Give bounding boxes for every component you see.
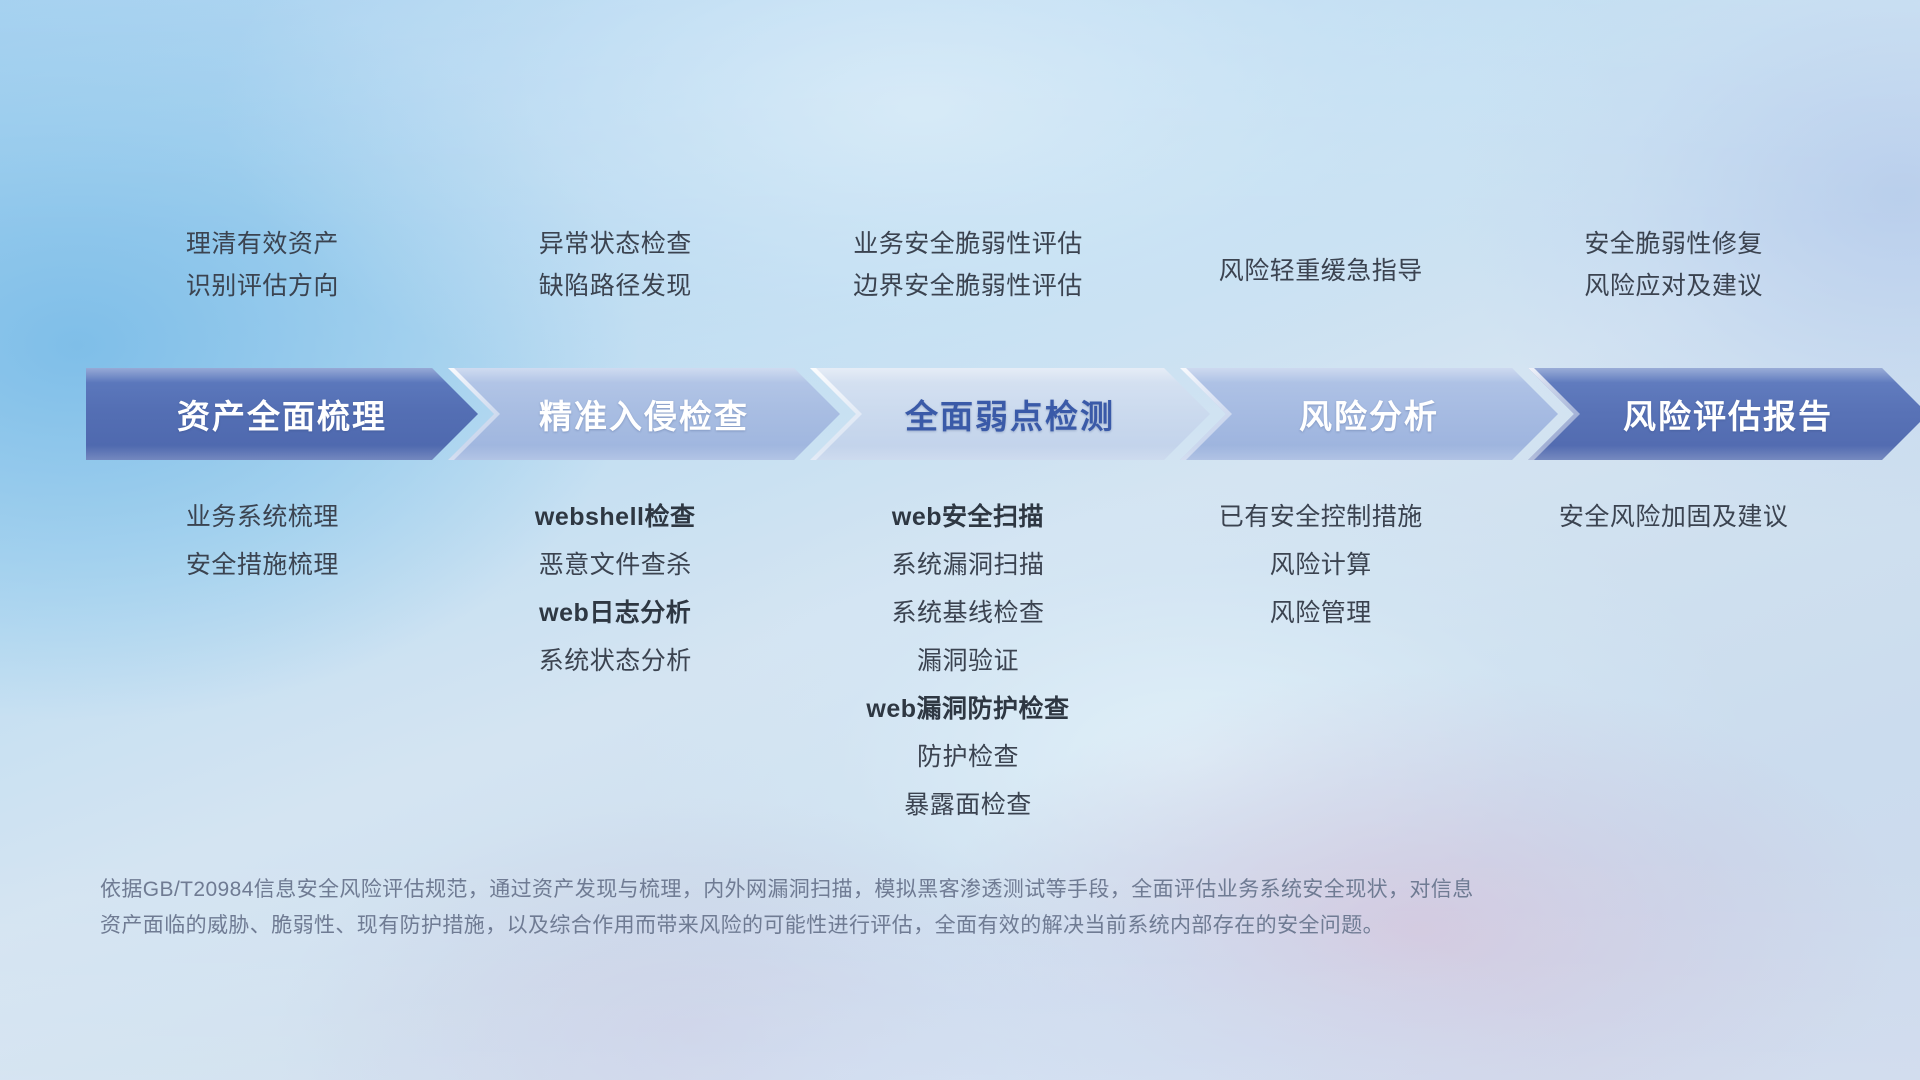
process-chevron-band: 资产全面梳理 精准入侵检查 全面弱点检测 风险分析 [86,368,1856,460]
top-note: 边界安全脆弱性评估 [853,274,1083,299]
top-notes-stage-5: 安全脆弱性修复 风险应对及建议 [1497,232,1850,299]
list-item: 业务系统梳理 [186,505,339,530]
stage-detail-lists: 业务系统梳理 安全措施梳理 webshell检查 恶意文件查杀 web日志分析 … [86,505,1850,818]
list-item: 漏洞验证 [917,649,1019,674]
list-item: webshell检查 [535,505,696,530]
chevron-stage-4[interactable]: 风险分析 [1180,368,1558,460]
detail-list-stage-5: 安全风险加固及建议 [1497,505,1850,530]
top-note: 缺陷路径发现 [539,274,692,299]
list-item: 风险计算 [1270,553,1372,578]
chevron-label: 风险分析 [1299,390,1439,438]
top-notes-stage-4: 风险轻重缓急指导 [1144,232,1497,284]
list-item: 系统基线检查 [891,601,1044,626]
footer-line-2: 资产面临的威胁、脆弱性、现有防护措施，以及综合作用而带来风险的可能性进行评估，全… [100,908,1740,944]
top-note: 识别评估方向 [186,274,339,299]
list-item: web安全扫描 [892,505,1044,530]
top-note: 风险轻重缓急指导 [1219,259,1423,284]
top-note: 风险应对及建议 [1584,274,1763,299]
list-item: 暴露面检查 [904,793,1032,818]
list-item: 恶意文件查杀 [539,553,692,578]
chevron-stage-2[interactable]: 精准入侵检查 [448,368,840,460]
list-item: 安全风险加固及建议 [1559,505,1789,530]
list-item: 系统状态分析 [539,649,692,674]
top-note: 异常状态检查 [539,232,692,257]
top-notes-stage-1: 理清有效资产 识别评估方向 [86,232,439,299]
list-item: web漏洞防护检查 [866,697,1069,722]
chevron-stage-5[interactable]: 风险评估报告 [1528,368,1920,460]
footer-description: 依据GB/T20984信息安全风险评估规范，通过资产发现与梳理，内外网漏洞扫描，… [100,872,1740,944]
list-item: 系统漏洞扫描 [891,553,1044,578]
detail-list-stage-1: 业务系统梳理 安全措施梳理 [86,505,439,578]
chevron-stage-1[interactable]: 资产全面梳理 [86,368,478,460]
chevron-label: 风险评估报告 [1623,390,1833,438]
list-item: 安全措施梳理 [186,553,339,578]
top-notes-stage-3: 业务安全脆弱性评估 边界安全脆弱性评估 [792,232,1145,299]
chevron-label: 全面弱点检测 [905,390,1115,438]
slide-content: 理清有效资产 识别评估方向 异常状态检查 缺陷路径发现 业务安全脆弱性评估 边界… [0,0,1920,1080]
chevron-label: 资产全面梳理 [177,390,387,438]
top-note: 理清有效资产 [186,232,339,257]
detail-list-stage-4: 已有安全控制措施 风险计算 风险管理 [1144,505,1497,626]
detail-list-stage-3: web安全扫描 系统漏洞扫描 系统基线检查 漏洞验证 web漏洞防护检查 防护检… [792,505,1145,818]
top-note: 安全脆弱性修复 [1584,232,1763,257]
top-notes-row: 理清有效资产 识别评估方向 异常状态检查 缺陷路径发现 业务安全脆弱性评估 边界… [86,232,1850,299]
footer-line-1: 依据GB/T20984信息安全风险评估规范，通过资产发现与梳理，内外网漏洞扫描，… [100,872,1740,908]
detail-list-stage-2: webshell检查 恶意文件查杀 web日志分析 系统状态分析 [439,505,792,674]
slide-canvas: 理清有效资产 识别评估方向 异常状态检查 缺陷路径发现 业务安全脆弱性评估 边界… [0,0,1920,1080]
list-item: 防护检查 [917,745,1019,770]
list-item: 风险管理 [1270,601,1372,626]
chevron-stage-3[interactable]: 全面弱点检测 [810,368,1210,460]
top-note: 业务安全脆弱性评估 [853,232,1083,257]
list-item: web日志分析 [539,601,691,626]
chevron-label: 精准入侵检查 [539,390,749,438]
top-notes-stage-2: 异常状态检查 缺陷路径发现 [439,232,792,299]
list-item: 已有安全控制措施 [1219,505,1423,530]
